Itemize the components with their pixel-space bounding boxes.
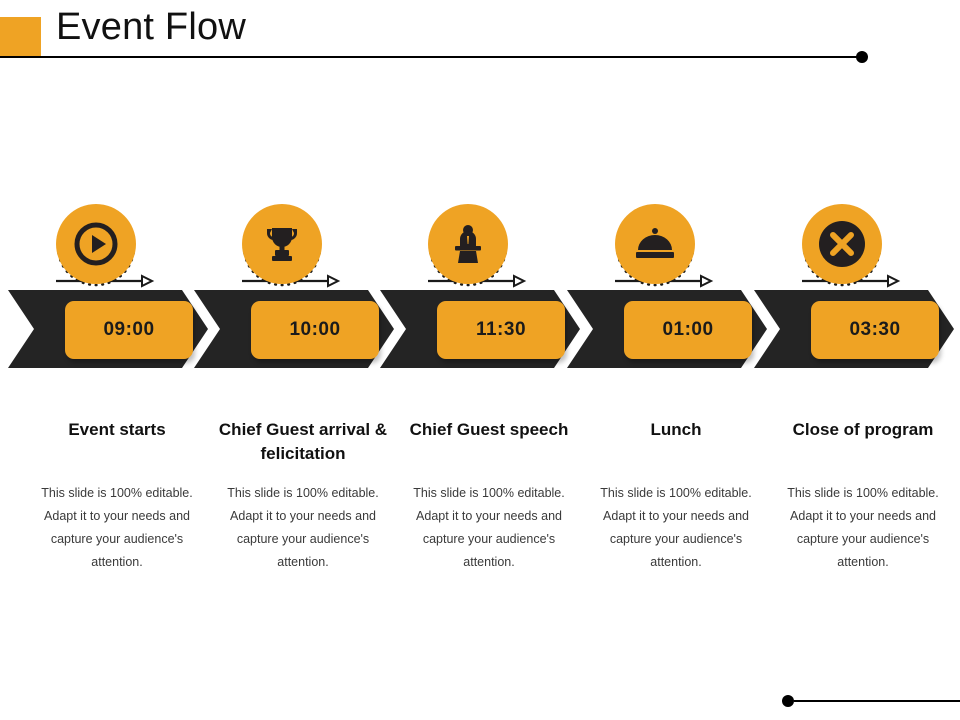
footer-divider-dot xyxy=(782,695,794,707)
step-time-badge[interactable]: 11:30 xyxy=(437,301,565,359)
step-time-label: 01:00 xyxy=(662,319,713,341)
step-time-label: 10:00 xyxy=(289,319,340,341)
timeline-step: 09:00Event startsThis slide is 100% edit… xyxy=(24,190,210,610)
page-title: Event Flow xyxy=(56,6,246,49)
podium-speaker-icon[interactable] xyxy=(428,204,508,284)
step-time-badge[interactable]: 09:00 xyxy=(65,301,193,359)
step-time-badge[interactable]: 01:00 xyxy=(624,301,752,359)
slide-header: Event Flow xyxy=(0,0,960,70)
step-icon-cluster xyxy=(232,195,347,300)
step-heading: Close of program xyxy=(770,418,956,442)
timeline-step: 11:30Chief Guest speechThis slide is 100… xyxy=(396,190,582,610)
event-flow-timeline: 09:00Event startsThis slide is 100% edit… xyxy=(0,190,960,610)
step-body-text: This slide is 100% editable. Adapt it to… xyxy=(776,482,950,574)
step-heading: Lunch xyxy=(583,418,769,442)
step-heading: Event starts xyxy=(24,418,210,442)
timeline-step: 01:00LunchThis slide is 100% editable. A… xyxy=(583,190,769,610)
step-icon-cluster xyxy=(605,195,720,300)
step-body-text: This slide is 100% editable. Adapt it to… xyxy=(216,482,390,574)
step-body-text: This slide is 100% editable. Adapt it to… xyxy=(402,482,576,574)
step-icon-cluster xyxy=(792,195,907,300)
header-divider-line xyxy=(0,56,862,58)
timeline-step: 03:30Close of programThis slide is 100% … xyxy=(770,190,956,610)
step-heading: Chief Guest speech xyxy=(396,418,582,442)
title-accent-square xyxy=(0,17,41,58)
close-x-icon[interactable] xyxy=(802,204,882,284)
step-time-label: 03:30 xyxy=(849,319,900,341)
play-icon[interactable] xyxy=(56,204,136,284)
step-body-text: This slide is 100% editable. Adapt it to… xyxy=(30,482,204,574)
step-time-badge[interactable]: 10:00 xyxy=(251,301,379,359)
food-cloche-icon[interactable] xyxy=(615,204,695,284)
footer-divider-line xyxy=(794,700,960,702)
step-time-label: 09:00 xyxy=(103,319,154,341)
step-time-label: 11:30 xyxy=(476,319,526,341)
timeline-step: 10:00Chief Guest arrival & felicitationT… xyxy=(210,190,396,610)
step-icon-cluster xyxy=(418,195,533,300)
header-divider-dot xyxy=(856,51,868,63)
step-icon-cluster xyxy=(46,195,161,300)
step-body-text: This slide is 100% editable. Adapt it to… xyxy=(589,482,763,574)
step-heading: Chief Guest arrival & felicitation xyxy=(210,418,396,466)
step-time-badge[interactable]: 03:30 xyxy=(811,301,939,359)
trophy-icon[interactable] xyxy=(242,204,322,284)
